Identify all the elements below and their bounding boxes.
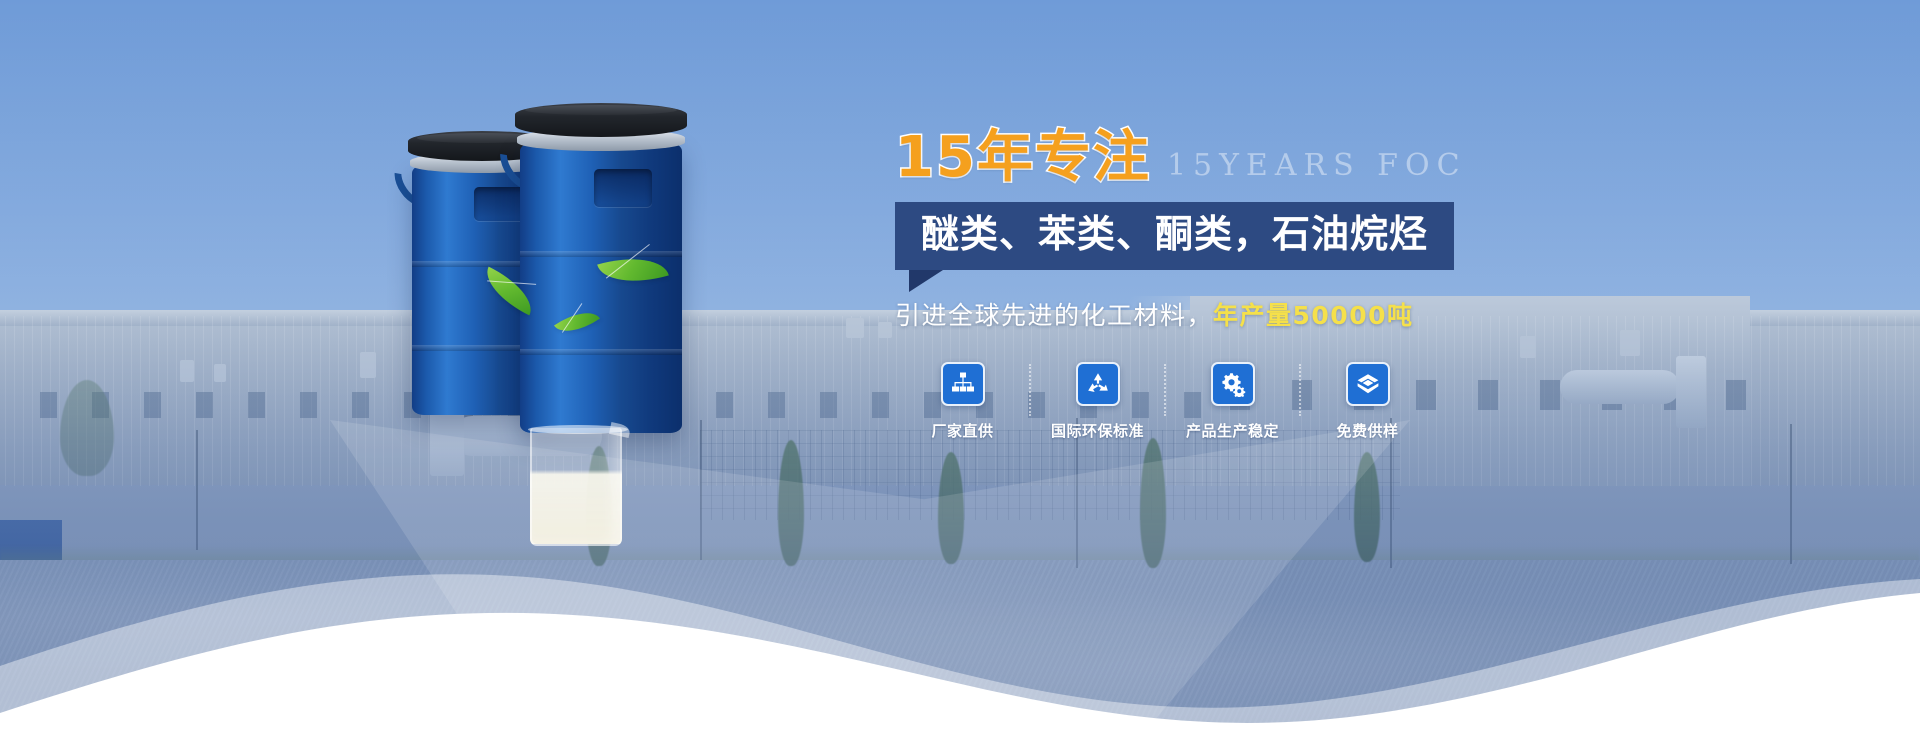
- headline-chinese: 15年专注: [895, 130, 1151, 186]
- product-callout-text: 醚类、苯类、酮类，石油烷烃: [921, 213, 1428, 257]
- hero-banner: 15年专注 15YEARS FOC 醚类、苯类、酮类，石油烷烃 引进全球先进的化…: [0, 0, 1920, 751]
- utility-pole: [1790, 424, 1792, 564]
- product-barrels-group: [380, 95, 740, 455]
- feature-list: 厂家直供 国际环保标准: [895, 362, 1615, 441]
- feature-item-factory-direct[interactable]: 厂家直供: [895, 362, 1030, 441]
- perimeter-fence: [700, 430, 1400, 520]
- barrel-ridge: [520, 349, 682, 355]
- roof-vent-icon: [878, 322, 892, 338]
- feature-item-eco-standard[interactable]: 国际环保标准: [1030, 362, 1165, 441]
- lab-beaker: [530, 428, 622, 546]
- roof-vent-icon: [846, 318, 864, 338]
- bubble-tail: [909, 270, 943, 292]
- org-chart-icon: [941, 362, 985, 406]
- headline-english: 15YEARS FOC: [1167, 151, 1467, 186]
- feature-item-free-sample[interactable]: 免费供样: [1300, 362, 1435, 441]
- roof-vent-icon: [180, 360, 194, 382]
- gears-icon: [1211, 362, 1255, 406]
- barrel-body: [520, 143, 682, 433]
- barrel-grip: [594, 169, 652, 207]
- barrel-grip: [474, 187, 526, 221]
- headline-row: 15年专注 15YEARS FOC: [895, 130, 1615, 186]
- feature-label: 产品生产稳定: [1165, 420, 1300, 441]
- feature-item-stable-production[interactable]: 产品生产稳定: [1165, 362, 1300, 441]
- barrel-lid-top: [525, 105, 676, 115]
- subline: 引进全球先进的化工材料，年产量50000吨: [895, 296, 1615, 332]
- recycle-icon: [1076, 362, 1120, 406]
- roof-vent-icon: [1620, 330, 1640, 356]
- feature-label: 国际环保标准: [1030, 420, 1165, 441]
- duct-riser: [1676, 356, 1706, 428]
- roof-vent-icon: [214, 364, 226, 382]
- feature-label: 免费供样: [1300, 420, 1435, 441]
- barrel-lid: [515, 103, 687, 137]
- open-box-icon: [1346, 362, 1390, 406]
- subline-prefix: 引进全球先进的化工材料，: [895, 301, 1213, 330]
- banner-copy: 15年专注 15YEARS FOC 醚类、苯类、酮类，石油烷烃 引进全球先进的化…: [895, 130, 1615, 441]
- feature-label: 厂家直供: [895, 420, 1030, 441]
- barrel-ridge: [520, 251, 682, 257]
- roof-vent-icon: [360, 352, 376, 378]
- product-callout-bubble: 醚类、苯类、酮类，石油烷烃: [895, 202, 1454, 270]
- gravel-foreground: [0, 560, 1920, 751]
- utility-pole: [196, 430, 198, 550]
- subline-highlight: 年产量50000吨: [1213, 301, 1413, 330]
